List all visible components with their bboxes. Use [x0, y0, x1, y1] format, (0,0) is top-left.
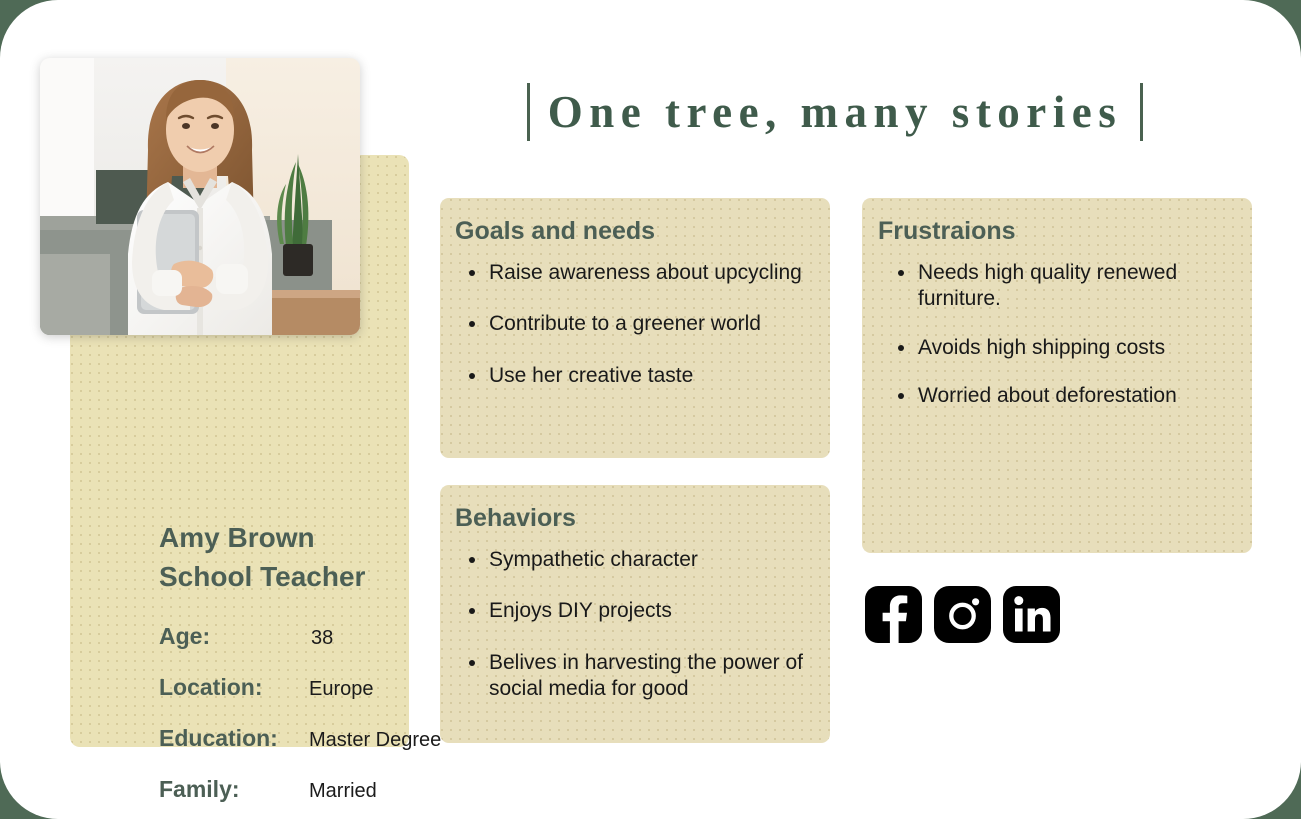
card-frustrations-heading: Frustraions: [862, 198, 1252, 246]
social-links: [865, 586, 1060, 643]
profile-attr-location-label: Location:: [159, 674, 309, 701]
profile-photo: [40, 58, 360, 335]
profile-attr-education: Education: Master Degree: [159, 725, 469, 752]
page-title: One tree, many stories: [548, 86, 1123, 138]
profile-details: Amy Brown School Teacher Age: 38 Locatio…: [159, 519, 469, 803]
profile-attribute-list: Age: 38 Location: Europe Education: Mast…: [159, 623, 469, 803]
card-goals-bullet-list: Raise awareness about upcycling Contribu…: [440, 246, 830, 389]
linkedin-icon[interactable]: [1003, 586, 1060, 643]
instagram-icon[interactable]: [934, 586, 991, 643]
profile-attr-age-value: 38: [309, 627, 333, 650]
card-behaviors: Behaviors Sympathetic character Enjoys D…: [440, 485, 830, 743]
list-item: Raise awareness about upcycling: [455, 260, 810, 286]
card-frustrations-bullet-list: Needs high quality renewed furniture. Av…: [862, 246, 1252, 410]
title-right-rule-icon: [1140, 83, 1143, 141]
profile-attr-family-label: Family:: [159, 776, 309, 803]
card-goals-heading: Goals and needs: [440, 198, 830, 246]
list-item: Contribute to a greener world: [455, 311, 810, 337]
persona-page: One tree, many stories Amy Brown School …: [0, 0, 1301, 819]
card-goals-and-needs: Goals and needs Raise awareness about up…: [440, 198, 830, 458]
profile-attr-age: Age: 38: [159, 623, 469, 650]
profile-attr-location-value: Europe: [309, 678, 374, 701]
card-behaviors-heading: Behaviors: [440, 485, 830, 533]
profile-attr-education-label: Education:: [159, 725, 309, 752]
list-item: Belives in harvesting the power of socia…: [455, 650, 810, 703]
facebook-icon[interactable]: [865, 586, 922, 643]
profile-attr-location: Location: Europe: [159, 674, 469, 701]
profile-photo-illustration: [40, 58, 360, 335]
profile-attr-education-value: Master Degree: [309, 729, 441, 752]
list-item: Worried about deforestation: [884, 383, 1234, 409]
list-item: Needs high quality renewed furniture.: [884, 260, 1234, 313]
profile-attr-family-value: Married: [309, 780, 377, 803]
profile-name-and-role: Amy Brown School Teacher: [159, 519, 469, 596]
list-item: Enjoys DIY projects: [455, 598, 810, 624]
title-left-rule-icon: [527, 83, 530, 141]
card-frustrations: Frustraions Needs high quality renewed f…: [862, 198, 1252, 553]
page-title-row: One tree, many stories: [440, 78, 1230, 146]
list-item: Use her creative taste: [455, 363, 810, 389]
list-item: Avoids high shipping costs: [884, 335, 1234, 361]
card-behaviors-bullet-list: Sympathetic character Enjoys DIY project…: [440, 533, 830, 703]
list-item: Sympathetic character: [455, 547, 810, 573]
profile-attr-age-label: Age:: [159, 623, 309, 650]
profile-attr-family: Family: Married: [159, 776, 469, 803]
